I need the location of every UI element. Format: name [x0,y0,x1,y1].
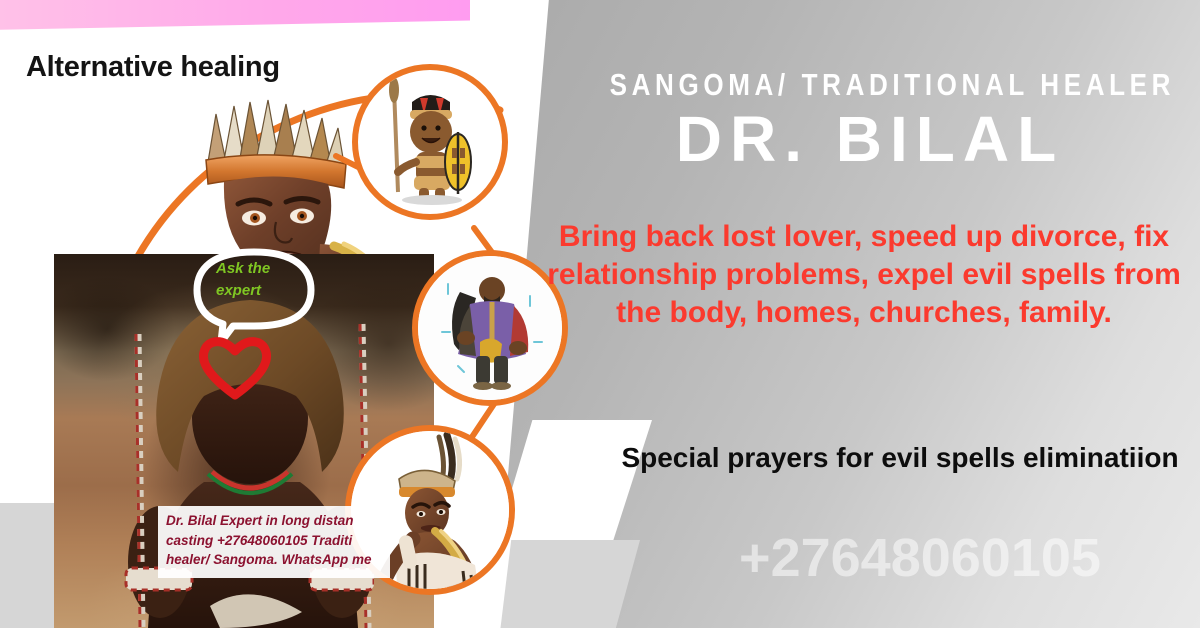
photo-caption-line-2: casting +27648060105 Traditi [166,531,382,551]
zulu-warrior-cartoon-icon [358,70,502,214]
speech-bubble-label: Ask the expert [216,258,306,302]
prayers-text: Special prayers for evil spells eliminat… [610,440,1190,476]
photo-caption-line-3: healer/ Sangoma. WhatsApp me [166,550,382,570]
poster-canvas: Alternative healing [0,0,1200,628]
phone-watermark: +27648060105 [640,527,1200,589]
kicker-headline: SANGOMA/ TRADITIONAL HEALER [610,67,1131,103]
grey-block-bottom-left [0,503,56,628]
heart-icon [196,333,274,401]
brand-name: DR. BILAL [560,106,1180,173]
photo-caption: Dr. Bilal Expert in long distan casting … [158,506,390,578]
services-text: Bring back lost lover, speed up divorce,… [536,218,1192,332]
photo-caption-line-1: Dr. Bilal Expert in long distan [166,511,382,531]
circle-zulu-warrior-cartoon[interactable] [352,64,508,220]
pink-accent-strip [0,0,470,30]
